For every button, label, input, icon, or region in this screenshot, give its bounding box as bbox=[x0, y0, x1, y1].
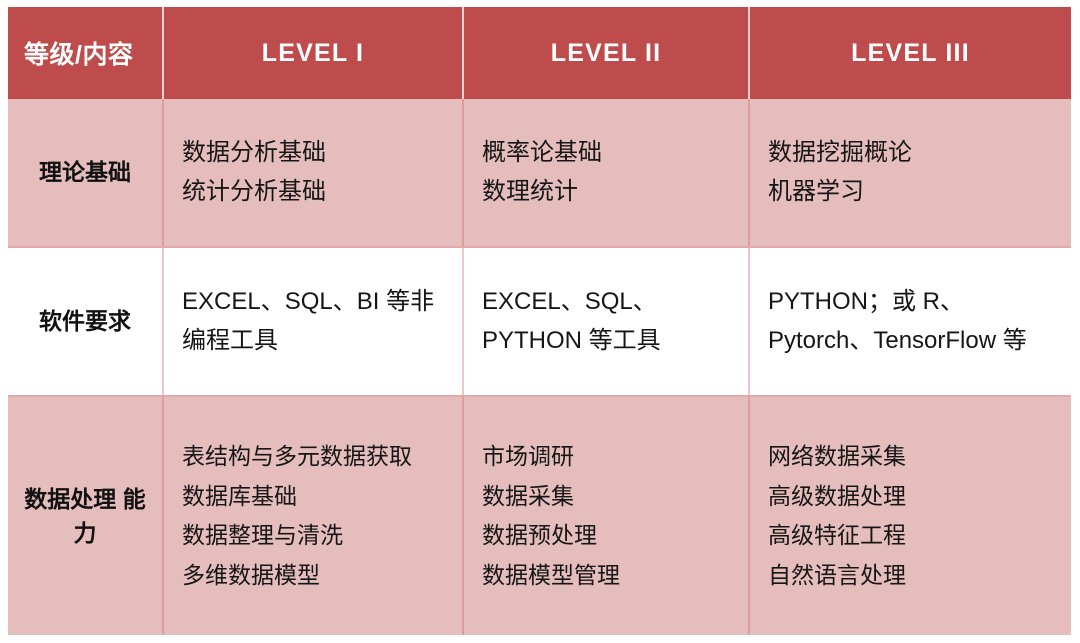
cell-line: EXCEL、SQL、PYTHON 等工具 bbox=[482, 283, 738, 361]
cell-line: 高级数据处理 bbox=[768, 477, 1061, 517]
cell-line: 概率论基础 bbox=[482, 134, 738, 173]
table-row: 数据处理 能力 表结构与多元数据获取 数据库基础 数据整理与清洗 多维数据模型 … bbox=[8, 396, 1071, 635]
table-row: 软件要求 EXCEL、SQL、BI 等非编程工具 EXCEL、SQL、PYTHO… bbox=[8, 247, 1071, 396]
header-level-1: LEVEL I bbox=[163, 7, 463, 99]
cell-theory-level3: 数据挖掘概论 机器学习 bbox=[749, 99, 1071, 247]
cell-line: 数据整理与清洗 bbox=[182, 516, 452, 556]
header-row: 等级/内容 LEVEL I LEVEL II LEVEL III bbox=[8, 7, 1071, 99]
table-container: 等级/内容 LEVEL I LEVEL II LEVEL III 理论基础 数据… bbox=[0, 0, 1080, 643]
table-row: 理论基础 数据分析基础 统计分析基础 概率论基础 数理统计 数据挖掘概论 bbox=[8, 99, 1071, 247]
cell-line: 数理统计 bbox=[482, 173, 738, 212]
cell-line: 自然语言处理 bbox=[768, 556, 1061, 596]
row-label-theory: 理论基础 bbox=[8, 99, 163, 247]
header-level-2: LEVEL II bbox=[463, 7, 749, 99]
cell-data-level2: 市场调研 数据采集 数据预处理 数据模型管理 bbox=[463, 396, 749, 635]
cell-software-level1: EXCEL、SQL、BI 等非编程工具 bbox=[163, 247, 463, 396]
cell-line: 数据挖掘概论 bbox=[768, 134, 1061, 173]
cell-line: 网络数据采集 bbox=[768, 437, 1061, 477]
row-label-software: 软件要求 bbox=[8, 247, 163, 396]
row-label-line: 数据处理 bbox=[24, 486, 116, 512]
table-header: 等级/内容 LEVEL I LEVEL II LEVEL III bbox=[8, 7, 1071, 99]
table-body: 理论基础 数据分析基础 统计分析基础 概率论基础 数理统计 数据挖掘概论 bbox=[8, 99, 1071, 635]
cell-line: 高级特征工程 bbox=[768, 516, 1061, 556]
cell-line: 数据分析基础 bbox=[182, 134, 452, 173]
cell-line: 表结构与多元数据获取 bbox=[182, 437, 452, 477]
cell-software-level3: PYTHON；或 R、Pytorch、TensorFlow 等 bbox=[749, 247, 1071, 396]
cell-data-level1: 表结构与多元数据获取 数据库基础 数据整理与清洗 多维数据模型 bbox=[163, 396, 463, 635]
cell-data-level3: 网络数据采集 高级数据处理 高级特征工程 自然语言处理 bbox=[749, 396, 1071, 635]
cell-line: EXCEL、SQL、BI 等非编程工具 bbox=[182, 283, 452, 361]
header-level-3: LEVEL III bbox=[749, 7, 1071, 99]
cell-software-level2: EXCEL、SQL、PYTHON 等工具 bbox=[463, 247, 749, 396]
cell-line: PYTHON；或 R、Pytorch、TensorFlow 等 bbox=[768, 283, 1061, 361]
level-comparison-table: 等级/内容 LEVEL I LEVEL II LEVEL III 理论基础 数据… bbox=[8, 7, 1071, 635]
cell-line: 数据模型管理 bbox=[482, 556, 738, 596]
cell-line: 统计分析基础 bbox=[182, 173, 452, 212]
cell-line: 市场调研 bbox=[482, 437, 738, 477]
header-corner-label: 等级/内容 bbox=[8, 7, 163, 99]
cell-theory-level1: 数据分析基础 统计分析基础 bbox=[163, 99, 463, 247]
cell-line: 数据预处理 bbox=[482, 516, 738, 556]
cell-line: 多维数据模型 bbox=[182, 556, 452, 596]
cell-line: 机器学习 bbox=[768, 173, 1061, 212]
cell-line: 数据库基础 bbox=[182, 477, 452, 517]
cell-theory-level2: 概率论基础 数理统计 bbox=[463, 99, 749, 247]
cell-line: 数据采集 bbox=[482, 477, 738, 517]
row-label-data-processing: 数据处理 能力 bbox=[8, 396, 163, 635]
